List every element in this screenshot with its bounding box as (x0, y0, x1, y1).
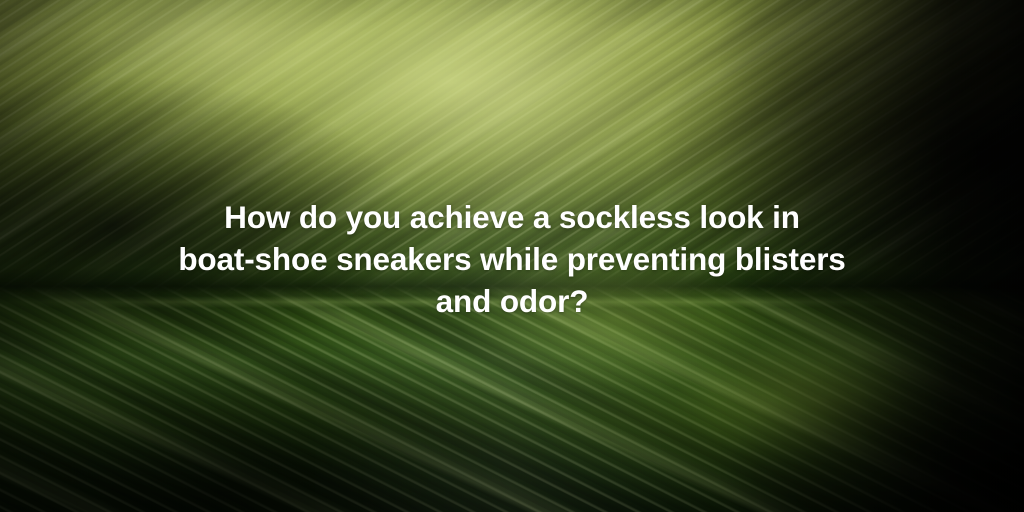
headline-line-1: How do you achieve a sockless look in (112, 196, 912, 238)
headline-container: How do you achieve a sockless look in bo… (0, 196, 1024, 322)
leaf-question-banner: How do you achieve a sockless look in bo… (0, 0, 1024, 512)
page-title: How do you achieve a sockless look in bo… (112, 196, 912, 322)
headline-line-3: and odor? (112, 280, 912, 322)
headline-line-2: boat-shoe sneakers while preventing blis… (112, 238, 912, 280)
